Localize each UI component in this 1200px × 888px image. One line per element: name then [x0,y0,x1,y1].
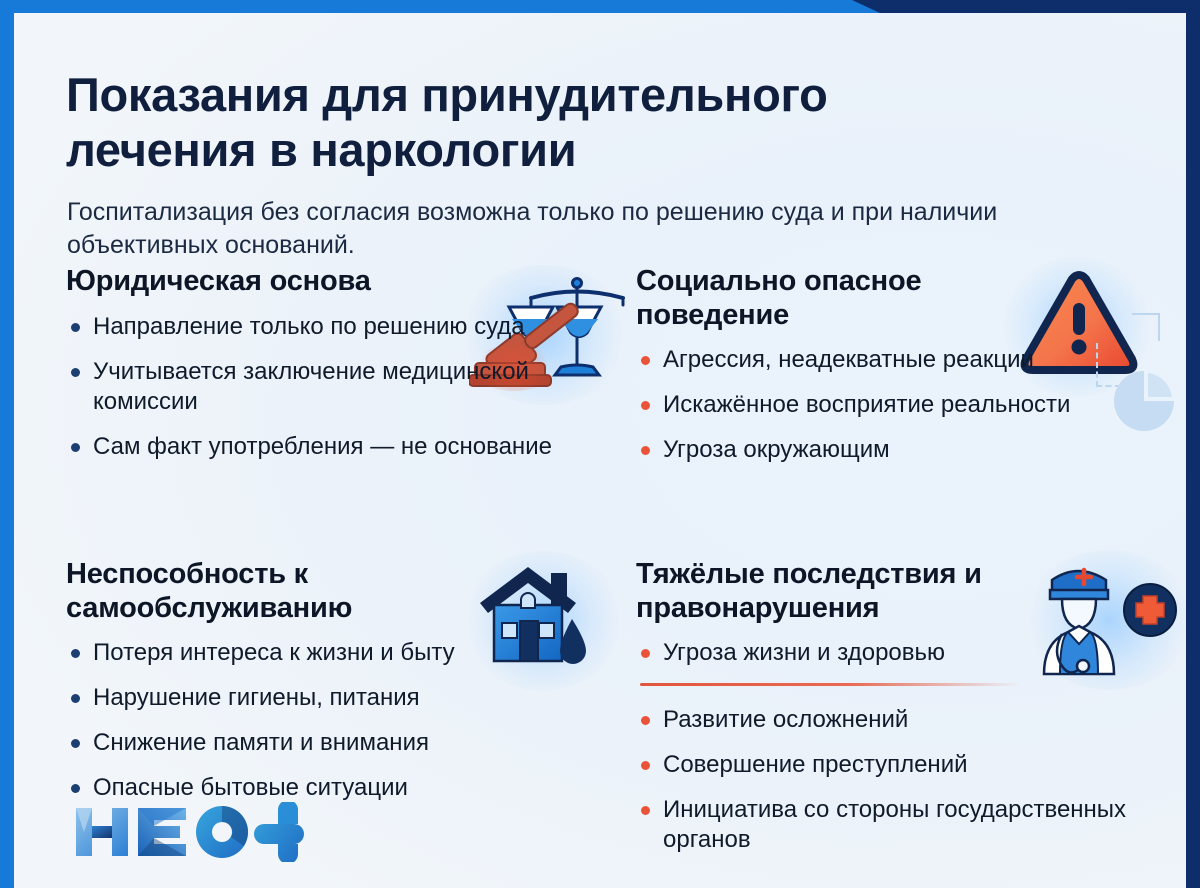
list-item: Агрессия, неадекватные реакции [636,345,1156,375]
section-dangerous-behavior: Социально опасное поведение Агрессия, не… [636,265,1156,480]
section-title: Тяжёлые последствия и правонарушения [636,558,1036,625]
list-item: Потеря интереса к жизни и быту [66,638,586,668]
page-subtitle: Госпитализация без согласия возможна тол… [67,196,1017,262]
section-title: Юридическая основа [66,265,486,299]
section-severe-consequences: Тяжёлые последствия и правонарушения Угр… [636,558,1156,870]
list-item: Опасные бытовые ситуации [66,773,586,803]
list-item: Снижение памяти и внимания [66,728,586,758]
page-title: Показания для принудительного лечения в … [66,68,1026,178]
section-title: Социально опасное поведение [636,265,1036,332]
section-divider [640,683,1020,686]
bullet-list: Потеря интереса к жизни и быту Нарушение… [66,638,586,803]
list-item: Сам факт употребления — не основание [66,432,586,462]
infographic-poster: Показания для принудительного лечения в … [0,0,1200,888]
list-item: Развитие осложнений [636,705,1156,735]
list-item: Инициатива со стороны государственных ор… [636,795,1156,855]
poster-canvas: Показания для принудительного лечения в … [14,13,1186,888]
bullet-list: Развитие осложнений Совершение преступле… [636,705,1156,855]
bullet-list: Направление только по решению суда Учиты… [66,312,586,462]
list-item: Нарушение гигиены, питания [66,683,586,713]
section-legal-basis: Юридическая основа Направление только по… [66,265,586,477]
list-item: Искажённое восприятие реальности [636,390,1156,420]
list-item: Угроза окружающим [636,435,1156,465]
bullet-list: Угроза жизни и здоровью [636,638,1156,668]
list-item: Совершение преступлений [636,750,1156,780]
brand-logo [74,802,304,862]
bullet-list: Агрессия, неадекватные реакции Искажённо… [636,345,1156,465]
section-self-care-inability: Неспособность к самообслуживанию Потеря … [66,558,586,818]
list-item: Учитывается заключение медицинской комис… [66,357,586,417]
section-title: Неспособность к самообслуживанию [66,558,486,625]
list-item: Направление только по решению суда [66,312,586,342]
list-item: Угроза жизни и здоровью [636,638,1156,668]
